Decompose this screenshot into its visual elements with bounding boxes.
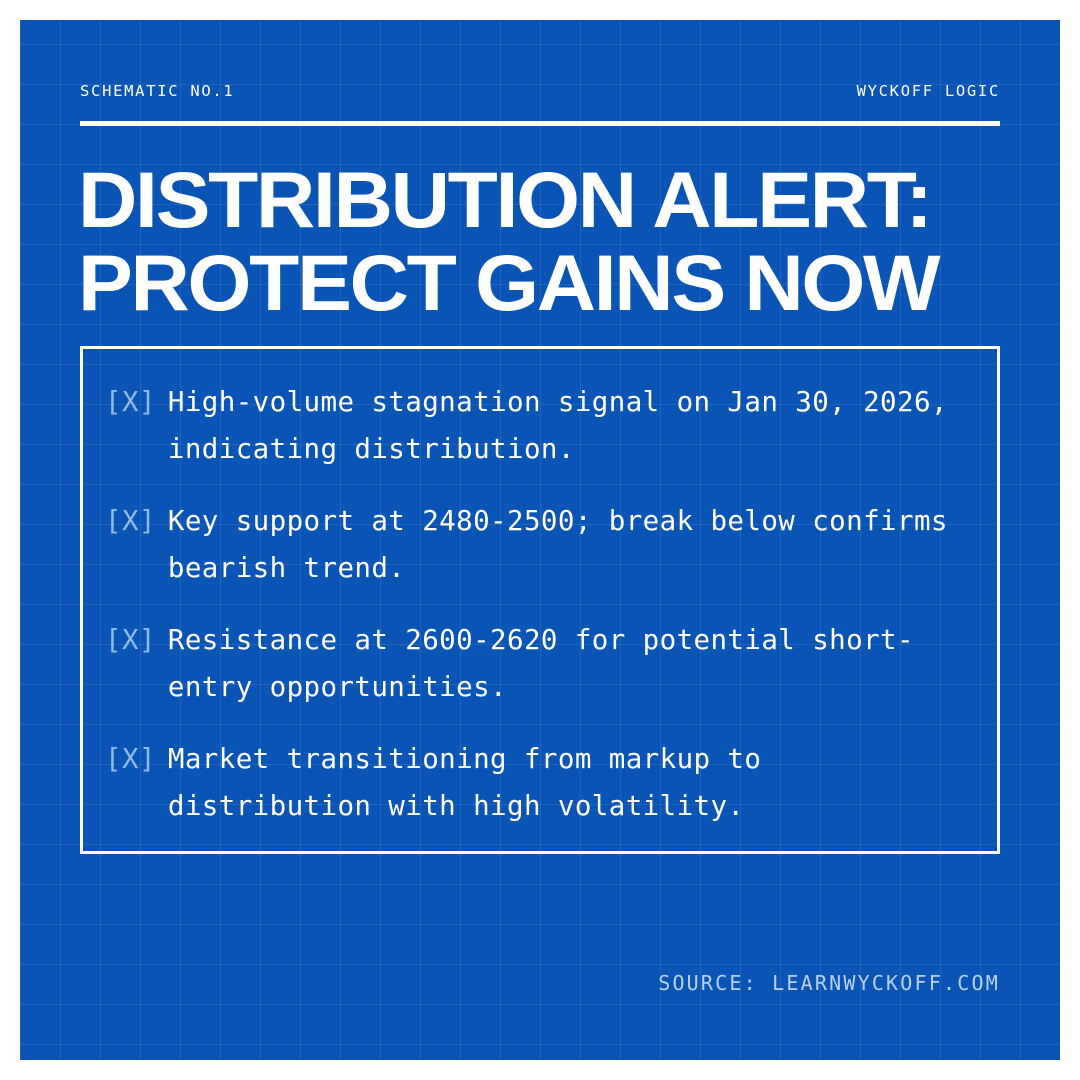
header-row: SCHEMATIC NO.1 WYCKOFF LOGIC [80, 82, 1000, 100]
checkbox-x-icon: [X] [105, 617, 168, 664]
header-right-label: WYCKOFF LOGIC [857, 82, 1000, 100]
list-item-text: Resistance at 2600-2620 for potential sh… [168, 617, 963, 711]
checkbox-x-icon: [X] [105, 379, 168, 426]
list-item: [X] Resistance at 2600-2620 for potentia… [105, 617, 963, 711]
page-title-line-2: PROTECT GAINS NOW [78, 241, 1045, 324]
list-item: [X] High-volume stagnation signal on Jan… [105, 379, 963, 473]
header-divider-rule [80, 121, 1000, 126]
checkbox-x-icon: [X] [105, 498, 168, 545]
header-left-label: SCHEMATIC NO.1 [80, 82, 234, 100]
list-item-text: Key support at 2480-2500; break below co… [168, 498, 963, 592]
page-title: DISTRIBUTION ALERT: PROTECT GAINS NOW [78, 158, 1045, 324]
source-attribution: SOURCE: LEARNWYCKOFF.COM [658, 971, 1000, 995]
list-item: [X] Market transitioning from markup to … [105, 736, 963, 830]
checkbox-x-icon: [X] [105, 736, 168, 783]
poster-root: SCHEMATIC NO.1 WYCKOFF LOGIC DISTRIBUTIO… [0, 0, 1080, 1080]
poster-content: SCHEMATIC NO.1 WYCKOFF LOGIC DISTRIBUTIO… [20, 20, 1060, 1060]
list-item-text: Market transitioning from markup to dist… [168, 736, 963, 830]
bullet-panel: [X] High-volume stagnation signal on Jan… [80, 346, 1000, 854]
bullet-list: [X] High-volume stagnation signal on Jan… [105, 379, 963, 821]
blueprint-panel: SCHEMATIC NO.1 WYCKOFF LOGIC DISTRIBUTIO… [20, 20, 1060, 1060]
list-item-text: High-volume stagnation signal on Jan 30,… [168, 379, 963, 473]
page-title-line-1: DISTRIBUTION ALERT: [78, 158, 1045, 241]
list-item: [X] Key support at 2480-2500; break belo… [105, 498, 963, 592]
